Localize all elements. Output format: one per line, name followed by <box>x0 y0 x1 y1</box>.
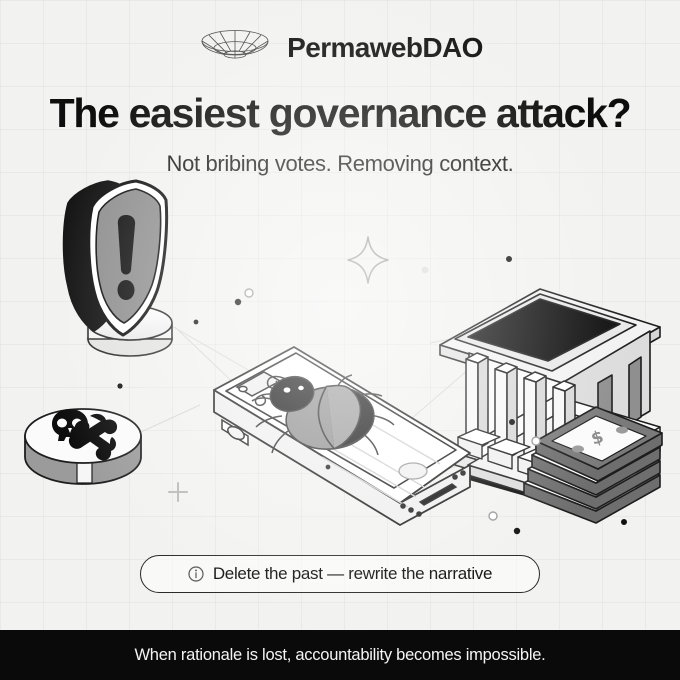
funnel-vortex-wireframe-icon <box>197 26 273 70</box>
page-subtitle: Not bribing votes. Removing context. <box>0 151 680 177</box>
info-circle-icon <box>188 566 204 582</box>
skull-coin-token <box>25 409 141 484</box>
cta-pill-label: Delete the past — rewrite the narrative <box>213 564 492 584</box>
smartphone-with-bug <box>214 347 470 525</box>
sparkle-decoration <box>348 237 388 283</box>
isometric-illustration: $ <box>0 175 680 550</box>
warning-shield-pedestal <box>64 181 173 356</box>
plus-decoration <box>169 483 187 501</box>
footer-text: When rationale is lost, accountability b… <box>134 646 545 665</box>
social-card: PermawebDAO The easiest governance attac… <box>0 0 680 680</box>
brand-name: PermawebDAO <box>287 34 483 62</box>
footer-bar: When rationale is lost, accountability b… <box>0 630 680 680</box>
illustration-canvas: $ <box>0 175 680 550</box>
brand-lockup: PermawebDAO <box>0 26 680 70</box>
page-title: The easiest governance attack? <box>0 91 680 137</box>
cta-pill[interactable]: Delete the past — rewrite the narrative <box>140 555 540 593</box>
